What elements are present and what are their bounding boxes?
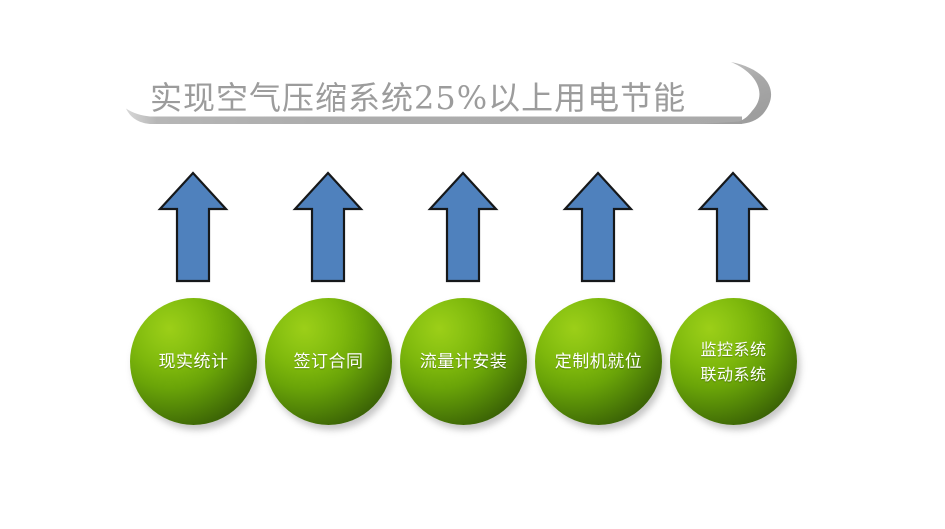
process-step-3-label: 流量计安装 xyxy=(414,350,514,374)
process-steps-row: 现实统计 签订合同 流量计安装 定制机就位 监控系统 联动系统 xyxy=(0,296,945,430)
process-step-1-label: 现实统计 xyxy=(153,350,235,374)
process-step-5[interactable]: 监控系统 联动系统 xyxy=(670,298,797,425)
process-step-3[interactable]: 流量计安装 xyxy=(400,298,527,425)
up-arrow-icon-2 xyxy=(292,170,364,284)
up-arrow-icon-5 xyxy=(697,170,769,284)
title-band: 实现空气压缩系统25%以上用电节能 xyxy=(0,28,945,138)
process-step-1[interactable]: 现实统计 xyxy=(130,298,257,425)
process-step-4[interactable]: 定制机就位 xyxy=(535,298,662,425)
process-step-2-label: 签订合同 xyxy=(288,350,370,374)
up-arrow-icon-3 xyxy=(427,170,499,284)
process-step-5-label: 监控系统 联动系统 xyxy=(694,337,772,387)
process-step-4-label: 定制机就位 xyxy=(549,350,649,374)
arrows-row xyxy=(0,170,945,286)
page-title: 实现空气压缩系统25%以上用电节能 xyxy=(150,72,730,124)
up-arrow-icon-4 xyxy=(562,170,634,284)
process-step-2[interactable]: 签订合同 xyxy=(265,298,392,425)
slide-canvas: 实现空气压缩系统25%以上用电节能 现实统计 签订合同 流量计安装 xyxy=(0,0,945,529)
up-arrow-icon-1 xyxy=(157,170,229,284)
